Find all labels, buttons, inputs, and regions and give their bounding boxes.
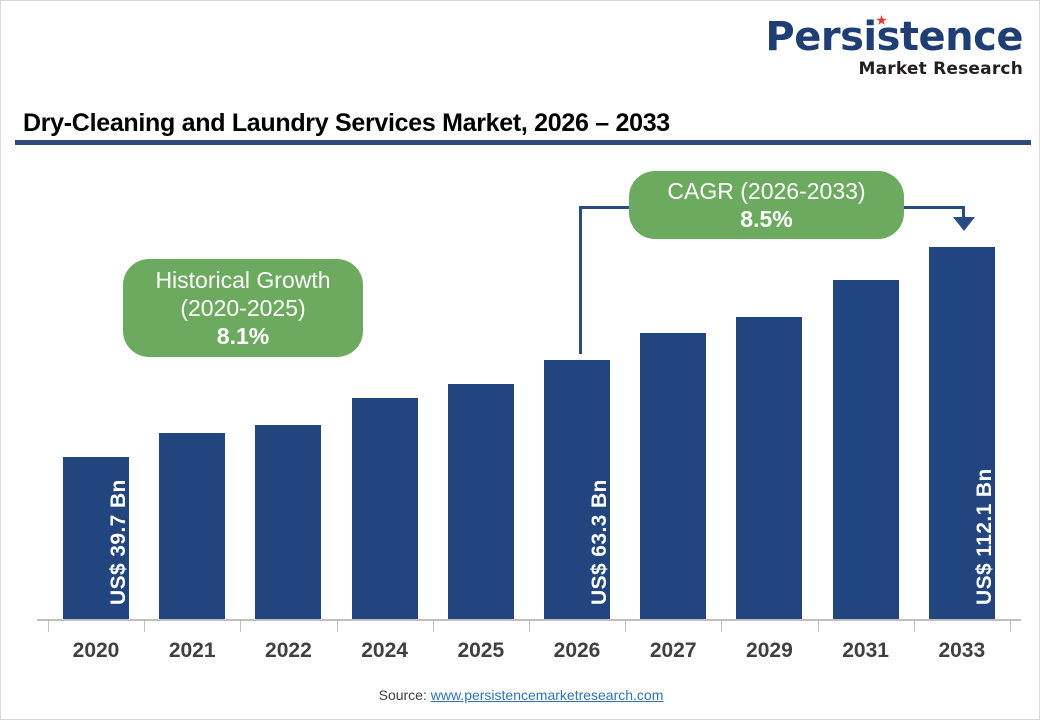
bar-2027[interactable]: [640, 333, 706, 619]
bar-2029[interactable]: [736, 317, 802, 619]
bar-chart-plot: US$ 39.7 BnUS$ 63.3 BnUS$ 112.1 Bn 20202…: [1, 1, 1040, 720]
x-tick-2033: [914, 619, 915, 632]
x-tick-label-2026: 2026: [529, 639, 625, 663]
bar-value-label-2020: US$ 39.7 Bn: [107, 479, 131, 605]
historical-growth-callout: Historical Growth (2020-2025) 8.1%: [123, 259, 363, 357]
source-link[interactable]: www.persistencemarketresearch.com: [431, 687, 664, 703]
x-tick-2024: [337, 619, 338, 632]
x-tick-label-2029: 2029: [721, 639, 817, 663]
x-tick-2022: [240, 619, 241, 632]
bar-value-label-2033: US$ 112.1 Bn: [973, 468, 997, 605]
historical-growth-line2: (2020-2025): [123, 294, 363, 322]
bar-2031[interactable]: [833, 280, 899, 619]
x-tick-label-2024: 2024: [337, 639, 433, 663]
bar-value-label-2026: US$ 63.3 Bn: [588, 479, 612, 605]
x-tick-2020: [48, 619, 49, 632]
source-prefix: Source:: [379, 687, 427, 703]
bar-2025[interactable]: [448, 384, 514, 619]
historical-growth-line1: Historical Growth: [123, 266, 363, 294]
x-tick-label-2033: 2033: [914, 639, 1010, 663]
x-tick-end: [1010, 619, 1011, 632]
x-tick-label-2020: 2020: [48, 639, 144, 663]
cagr-line1: CAGR (2026-2033): [629, 177, 904, 205]
bar-2024[interactable]: [352, 398, 418, 619]
x-tick-label-2021: 2021: [144, 639, 240, 663]
source-footer: Source: www.persistencemarketresearch.co…: [1, 687, 1040, 703]
x-tick-2027: [625, 619, 626, 632]
x-tick-label-2025: 2025: [433, 639, 529, 663]
historical-growth-value: 8.1%: [123, 322, 363, 351]
x-tick-label-2027: 2027: [625, 639, 721, 663]
x-tick-2026: [529, 619, 530, 632]
bar-2021[interactable]: [159, 433, 225, 619]
x-tick-2025: [433, 619, 434, 632]
x-tick-label-2031: 2031: [818, 639, 914, 663]
x-tick-label-2022: 2022: [240, 639, 336, 663]
cagr-connector-left-vertical: [579, 206, 582, 354]
cagr-callout: CAGR (2026-2033) 8.5%: [629, 171, 904, 239]
cagr-value: 8.5%: [629, 205, 904, 234]
x-tick-2029: [721, 619, 722, 632]
x-tick-2031: [818, 619, 819, 632]
bar-2022[interactable]: [255, 425, 321, 619]
chart-page: Persistence Market Research Dry-Cleaning…: [0, 0, 1040, 720]
x-tick-2021: [144, 619, 145, 632]
cagr-arrow-icon: [953, 217, 975, 231]
